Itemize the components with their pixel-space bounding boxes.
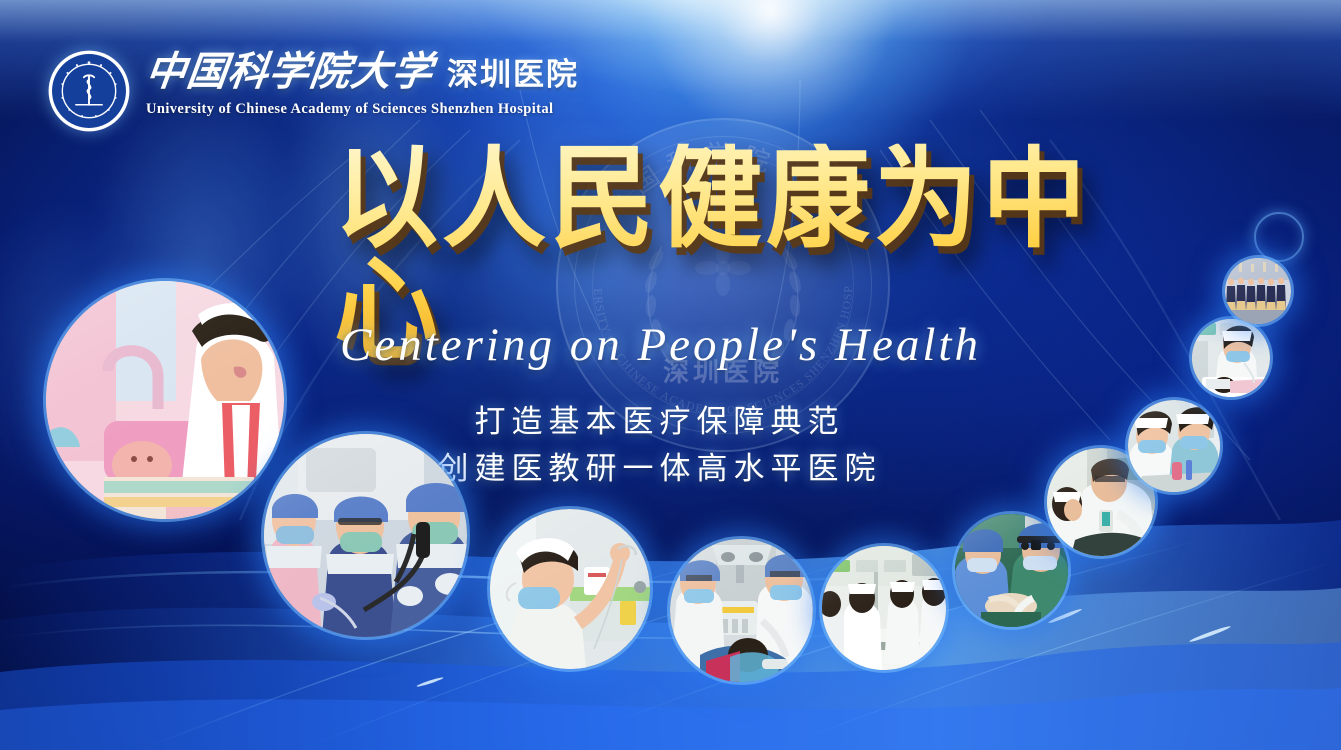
photo-nurse-adjusting-iv-drip bbox=[490, 509, 650, 669]
brand-name-cn-suffix: 深圳医院 bbox=[447, 59, 579, 92]
photo-two-nurses-working bbox=[1128, 400, 1220, 492]
brand-name-en: University of Chinese Academy of Science… bbox=[146, 101, 579, 118]
hospital-banner: 中国科学院大学 深圳医院 University of Chinese Acade… bbox=[0, 0, 1341, 750]
decorative-ring-icon bbox=[1254, 212, 1304, 262]
brand-logo: 中国科学院大学 深圳医院 University of Chinese Acade… bbox=[46, 48, 579, 134]
hospital-emblem-icon bbox=[46, 48, 132, 134]
photo-neonatal-care bbox=[1192, 319, 1270, 397]
headline-cn-wrap: 以人民健康为中心 bbox=[334, 196, 1164, 316]
photo-dental-treatment bbox=[670, 539, 813, 682]
brand-name-cn: 中国科学院大学 bbox=[144, 52, 436, 92]
photo-nurse-with-newborn bbox=[46, 281, 284, 519]
photo-staff-group-performance bbox=[1225, 258, 1291, 324]
photo-ward-round-nurses bbox=[822, 546, 946, 670]
photo-interventional-surgery-team bbox=[264, 434, 467, 637]
